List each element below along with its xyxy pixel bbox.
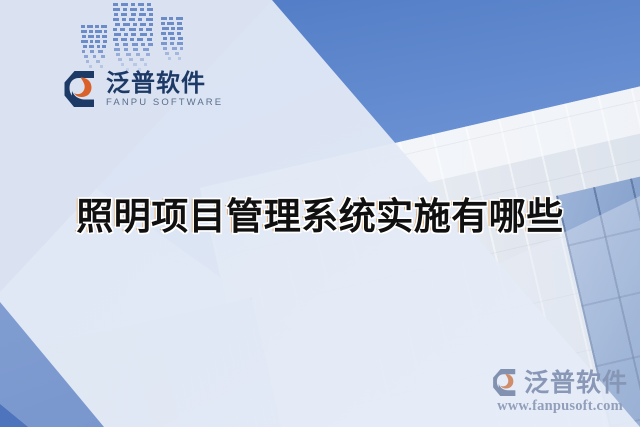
page-title: 照明项目管理系统实施有哪些 (0, 186, 640, 240)
brand-name-cn: 泛普软件 (106, 71, 223, 95)
watermark-url: www.fanpusoft.com (497, 398, 623, 415)
promo-banner: 泛普软件 FANPU SOFTWARE 照明项目管理系统实施有哪些 泛普软件 w… (0, 0, 640, 427)
watermark: 泛普软件 www.fanpusoft.com (492, 368, 628, 415)
brand-logo: 泛普软件 FANPU SOFTWARE (63, 70, 223, 108)
fanpu-hexagon-logo-icon (63, 70, 99, 108)
fanpu-hexagon-logo-icon (492, 368, 519, 397)
brand-logo-text: 泛普软件 FANPU SOFTWARE (106, 71, 223, 108)
pixel-city-skyline-icon (78, 2, 188, 76)
watermark-brand-name: 泛普软件 (524, 370, 628, 395)
watermark-logo-row: 泛普软件 (492, 368, 628, 397)
brand-name-en: FANPU SOFTWARE (106, 98, 223, 108)
